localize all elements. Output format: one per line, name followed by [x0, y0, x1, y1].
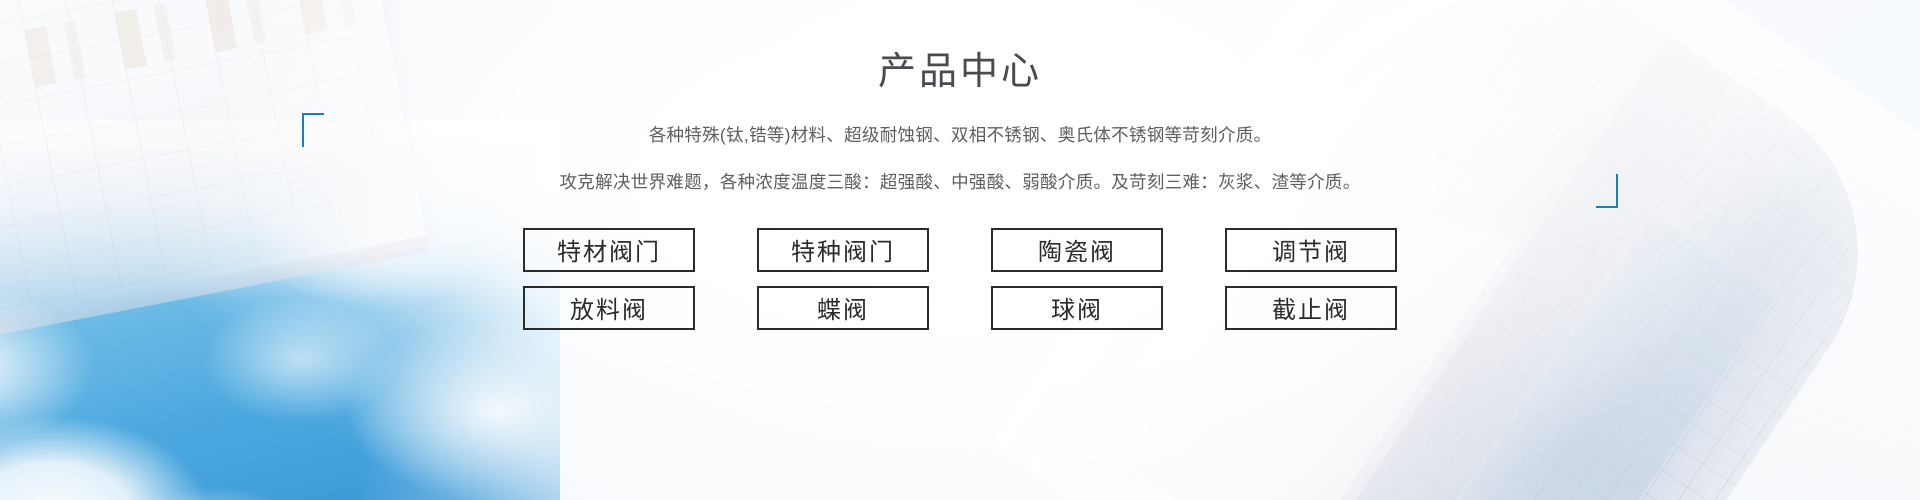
banner-content: 产品中心 各种特殊(钛,锆等)材料、超级耐蚀钢、双相不锈钢、奥氏体不锈钢等苛刻介…: [0, 0, 1920, 500]
corner-bracket-top-left-icon: [302, 113, 324, 147]
category-button-control-valve[interactable]: 调节阀: [1225, 228, 1397, 272]
description-line-1: 各种特殊(钛,锆等)材料、超级耐蚀钢、双相不锈钢、奥氏体不锈钢等苛刻介质。: [380, 122, 1540, 149]
page-title: 产品中心: [878, 50, 1042, 96]
category-button-butterfly-valve[interactable]: 蝶阀: [757, 286, 929, 330]
description-line-2: 攻克解决世界难题，各种浓度温度三酸：超强酸、中强酸、弱酸介质。及苛刻三难：灰浆、…: [380, 169, 1540, 196]
description-block: 各种特殊(钛,锆等)材料、超级耐蚀钢、双相不锈钢、奥氏体不锈钢等苛刻介质。 攻克…: [380, 122, 1540, 196]
category-button-special-valve[interactable]: 特种阀门: [757, 228, 929, 272]
category-button-discharge-valve[interactable]: 放料阀: [523, 286, 695, 330]
corner-bracket-bottom-right-icon: [1596, 174, 1618, 208]
product-category-list: 特材阀门 特种阀门 陶瓷阀 调节阀 放料阀 蝶阀 球阀 截止阀: [460, 228, 1460, 330]
category-button-techai-valve[interactable]: 特材阀门: [523, 228, 695, 272]
product-category-row-1: 特材阀门 特种阀门 陶瓷阀 调节阀: [523, 228, 1397, 272]
category-button-ball-valve[interactable]: 球阀: [991, 286, 1163, 330]
category-button-globe-valve[interactable]: 截止阀: [1225, 286, 1397, 330]
product-center-banner: 产品中心 各种特殊(钛,锆等)材料、超级耐蚀钢、双相不锈钢、奥氏体不锈钢等苛刻介…: [0, 0, 1920, 500]
category-button-ceramic-valve[interactable]: 陶瓷阀: [991, 228, 1163, 272]
product-category-row-2: 放料阀 蝶阀 球阀 截止阀: [523, 286, 1397, 330]
